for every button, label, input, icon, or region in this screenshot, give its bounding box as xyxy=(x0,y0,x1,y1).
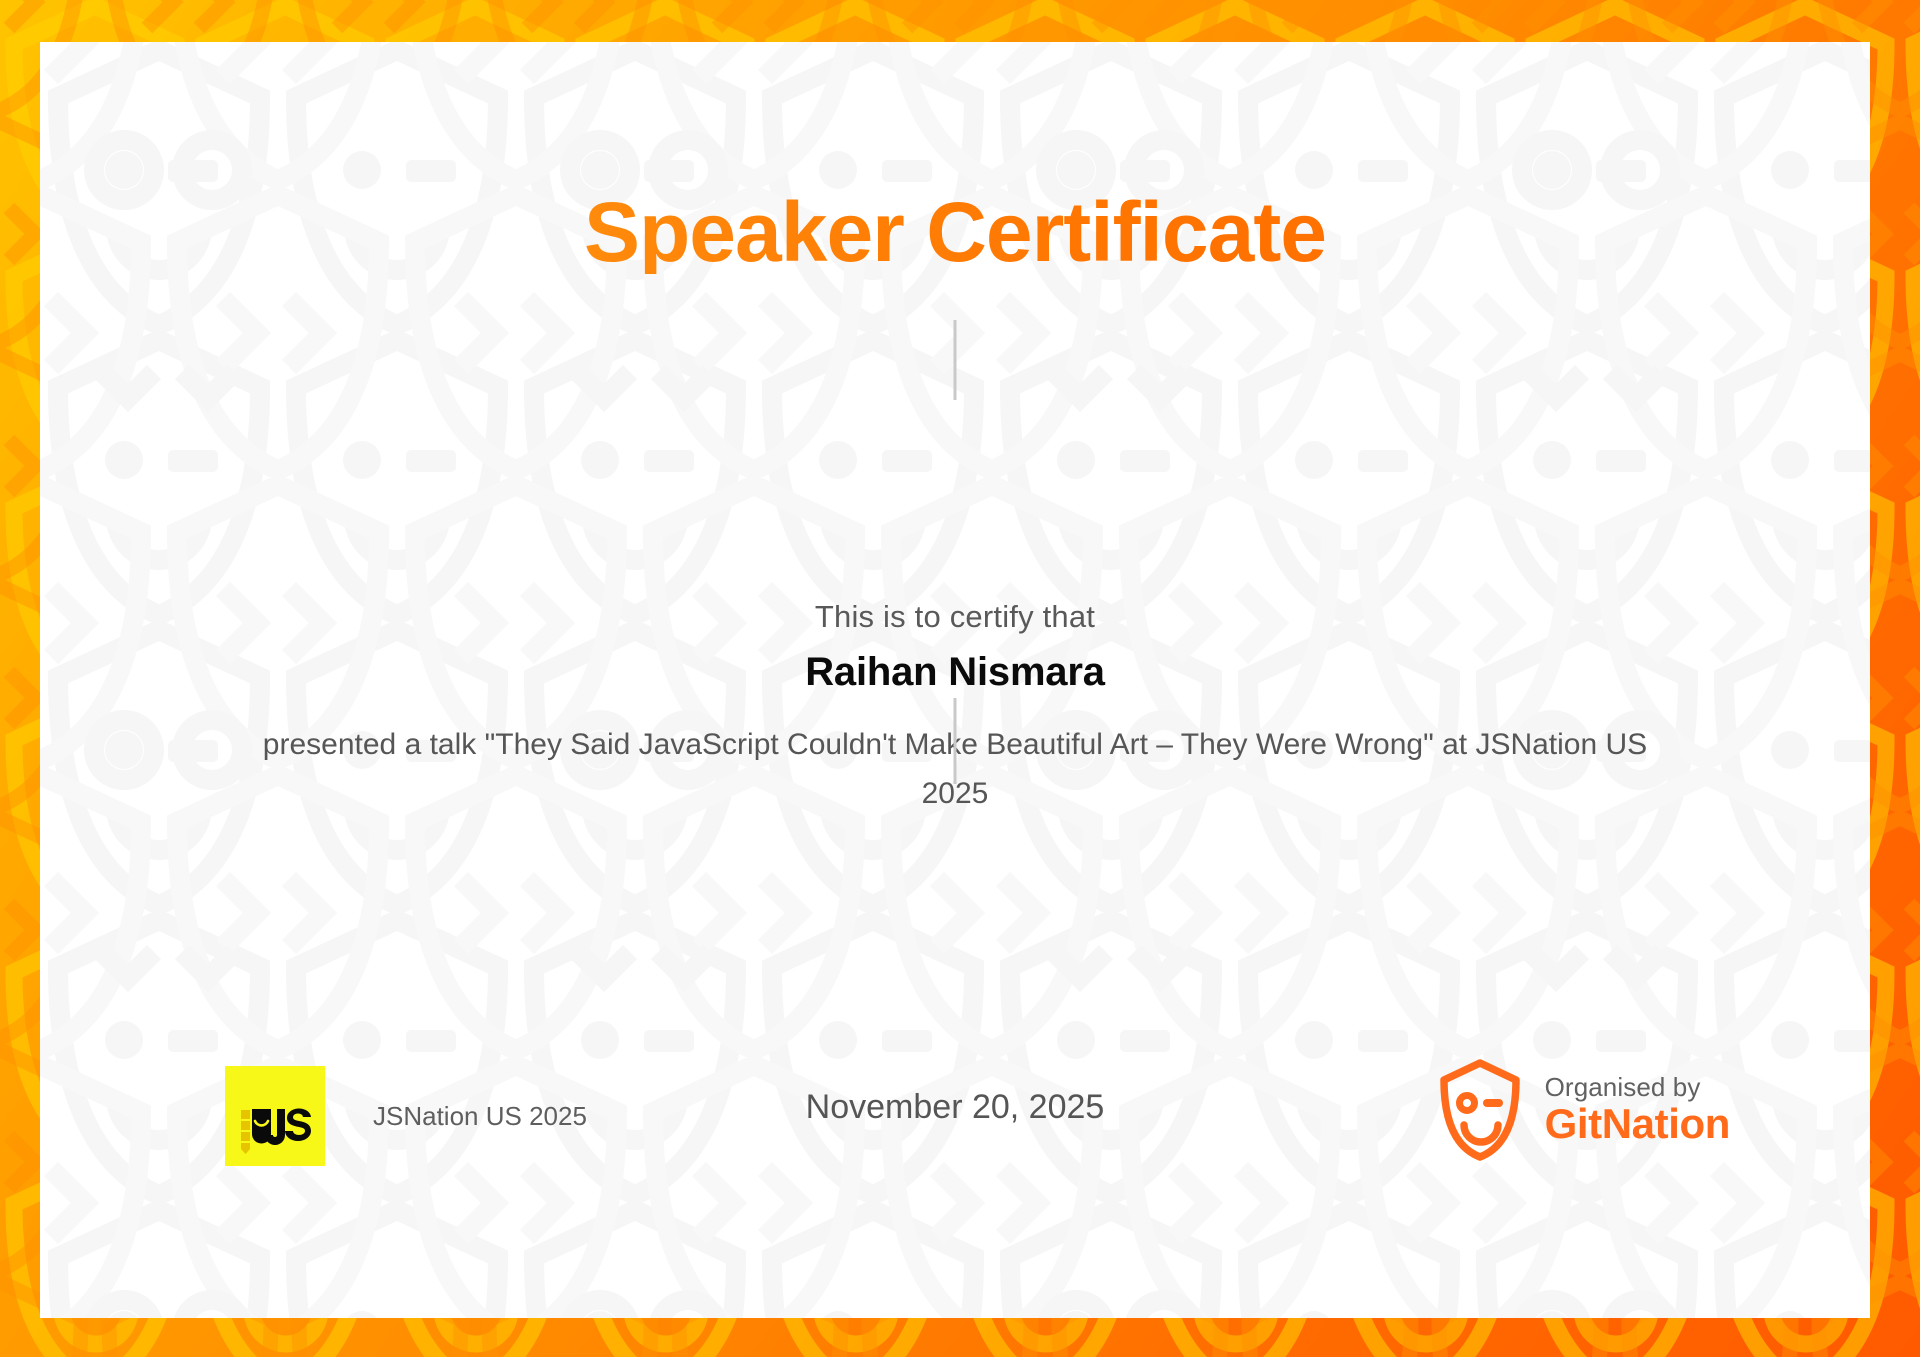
certificate-card: Speaker Certificate This is to certify t… xyxy=(40,42,1870,1318)
divider-bottom xyxy=(954,698,957,784)
issue-date: November 20, 2025 xyxy=(806,1088,1105,1127)
organised-by-label: Organised by xyxy=(1545,1073,1730,1101)
divider-top xyxy=(954,320,957,400)
js-logo-icon xyxy=(225,1066,325,1166)
certificate-footer: JSNation US 2025 November 20, 2025 Organ… xyxy=(40,1052,1870,1212)
event-name-label: JSNation US 2025 xyxy=(373,1101,587,1132)
js-mask-logo-icon xyxy=(225,1066,325,1166)
organiser-name: GitNation xyxy=(1545,1101,1730,1146)
gitnation-shield-mask-icon xyxy=(1437,1058,1523,1162)
organiser-brand: Organised by GitNation xyxy=(1437,1058,1730,1162)
event-brand: JSNation US 2025 xyxy=(225,1066,587,1166)
certificate: Speaker Certificate This is to certify t… xyxy=(0,0,1920,1357)
certify-statement: This is to certify that xyxy=(40,599,1870,635)
page-title: Speaker Certificate xyxy=(40,190,1870,274)
recipient-name: Raihan Nismara xyxy=(40,650,1870,695)
